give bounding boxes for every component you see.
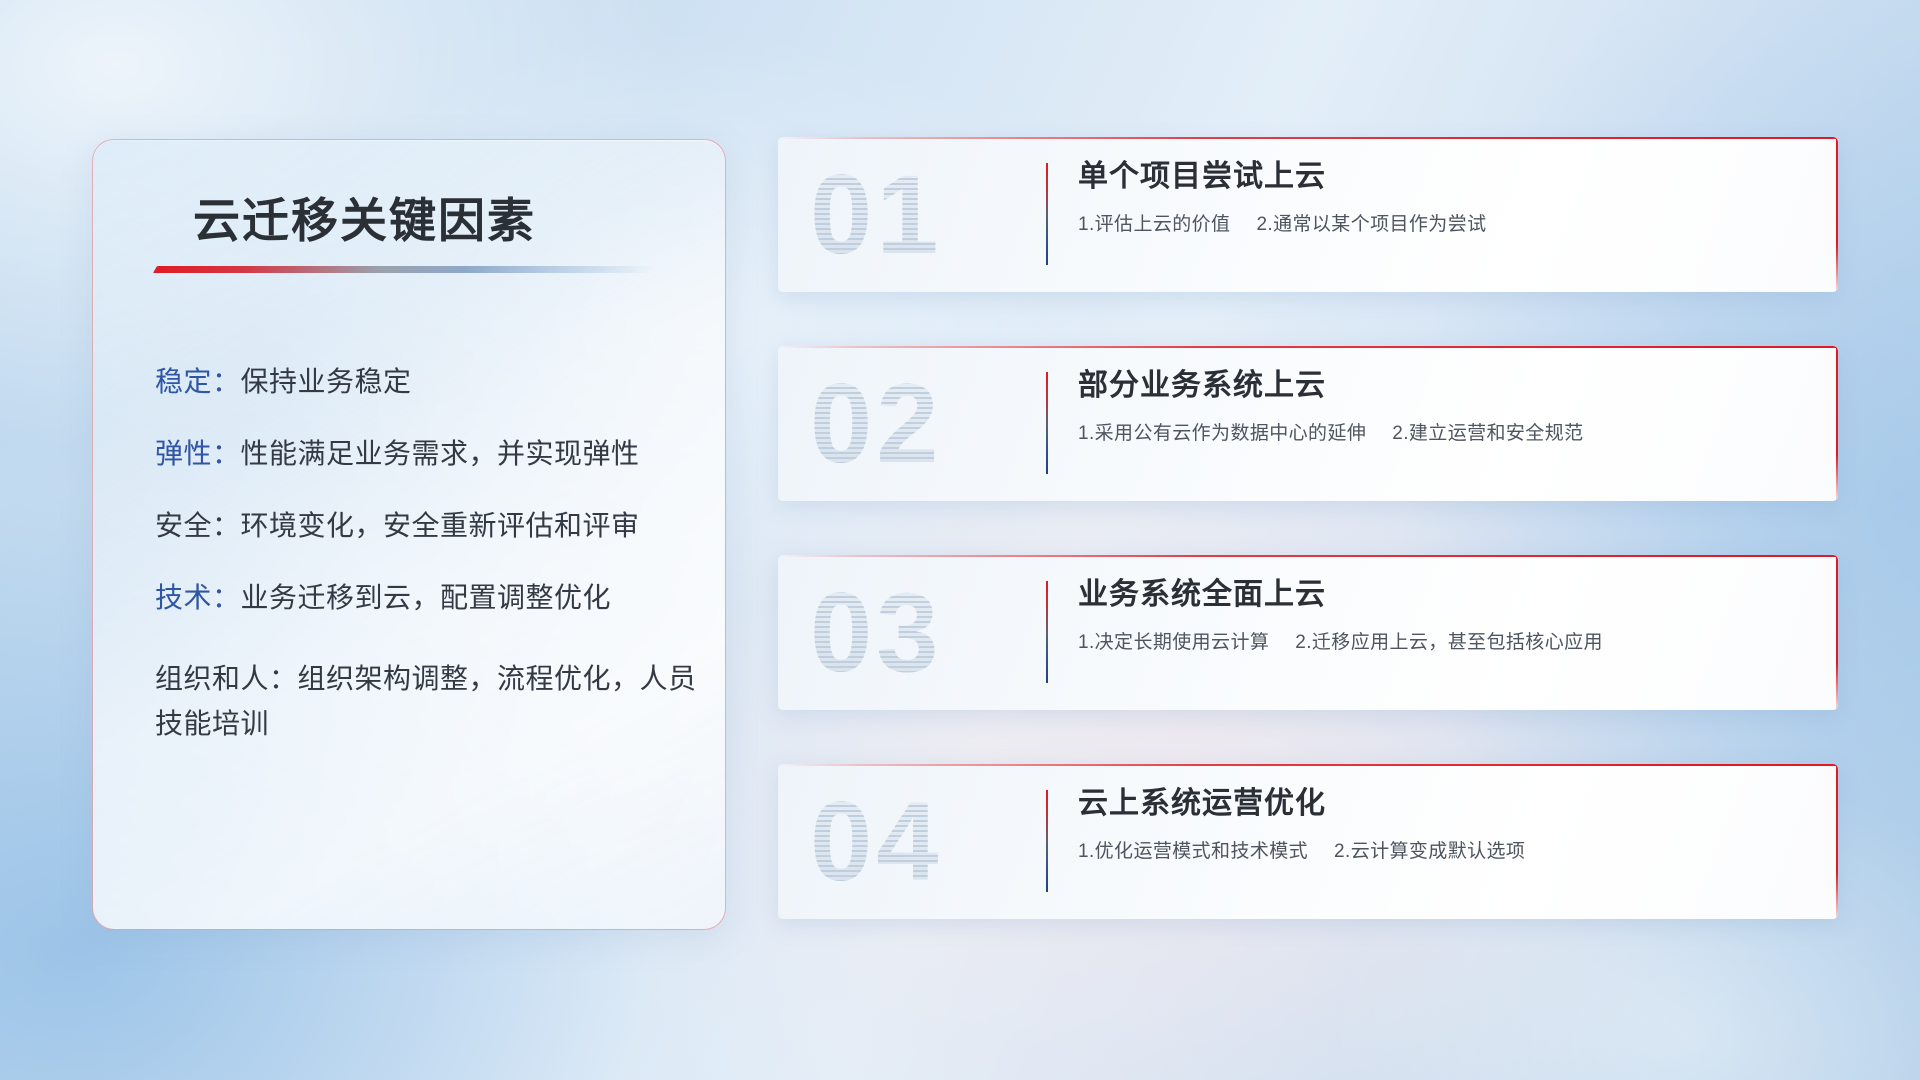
stage-point-1: 1.评估上云的价值	[1078, 214, 1230, 235]
stage-card-02[interactable]: 02 部分业务系统上云 1.采用公有云作为数据中心的延伸2.建立运营和安全规范	[778, 346, 1838, 501]
migration-stage-list: 01 单个项目尝试上云 1.评估上云的价值2.通常以某个项目作为尝试 02 部分…	[778, 137, 1838, 973]
factor-text: 业务迁移到云，配置调整优化	[241, 582, 612, 613]
factor-label: 安全：	[155, 510, 241, 541]
stage-description: 1.采用公有云作为数据中心的延伸2.建立运营和安全规范	[1078, 418, 1798, 445]
key-factors-panel: 云迁移关键因素 稳定：保持业务稳定 弹性：性能满足业务需求，并实现弹性 安全：环…	[92, 139, 726, 930]
factor-item-organization-people: 组织和人：组织架构调整，流程优化，人员技能培训	[155, 656, 697, 747]
stage-title: 云上系统运营优化	[1078, 786, 1798, 822]
factor-label: 组织和人：	[155, 663, 298, 694]
stage-point-1: 1.决定长期使用云计算	[1078, 632, 1269, 653]
factor-item-security: 安全：环境变化，安全重新评估和评审	[155, 512, 697, 540]
stage-number: 04	[810, 770, 1020, 912]
stage-number: 03	[810, 561, 1020, 703]
stage-card-04[interactable]: 04 云上系统运营优化 1.优化运营模式和技术模式2.云计算变成默认选项	[778, 764, 1838, 919]
factor-item-elasticity: 弹性：性能满足业务需求，并实现弹性	[155, 440, 697, 468]
factor-label: 技术：	[155, 582, 241, 613]
stage-point-2: 2.迁移应用上云，甚至包括核心应用	[1295, 632, 1603, 653]
stage-divider-rule	[1046, 372, 1048, 474]
stage-title: 单个项目尝试上云	[1078, 159, 1798, 195]
factor-label: 弹性：	[155, 438, 241, 469]
factor-item-stability: 稳定：保持业务稳定	[155, 368, 697, 396]
stage-point-2: 2.建立运营和安全规范	[1392, 423, 1583, 444]
stage-divider-rule	[1046, 163, 1048, 265]
factor-list: 稳定：保持业务稳定 弹性：性能满足业务需求，并实现弹性 安全：环境变化，安全重新…	[155, 368, 697, 791]
stage-point-1: 1.采用公有云作为数据中心的延伸	[1078, 423, 1366, 444]
stage-divider-rule	[1046, 790, 1048, 892]
stage-divider-rule	[1046, 581, 1048, 683]
factor-label: 稳定：	[155, 366, 241, 397]
factor-item-technology: 技术：业务迁移到云，配置调整优化	[155, 584, 697, 612]
stage-point-1: 1.优化运营模式和技术模式	[1078, 841, 1308, 862]
stage-card-01[interactable]: 01 单个项目尝试上云 1.评估上云的价值2.通常以某个项目作为尝试	[778, 137, 1838, 292]
stage-point-2: 2.通常以某个项目作为尝试	[1256, 214, 1486, 235]
stage-number: 02	[810, 352, 1020, 494]
stage-point-2: 2.云计算变成默认选项	[1334, 841, 1525, 862]
stage-number: 01	[810, 143, 1020, 285]
stage-description: 1.决定长期使用云计算2.迁移应用上云，甚至包括核心应用	[1078, 627, 1798, 654]
stage-description: 1.优化运营模式和技术模式2.云计算变成默认选项	[1078, 836, 1798, 863]
title-underline-rule	[153, 266, 657, 273]
factor-text: 环境变化，安全重新评估和评审	[241, 510, 640, 541]
factor-text: 保持业务稳定	[241, 366, 412, 397]
stage-title: 业务系统全面上云	[1078, 577, 1798, 613]
stage-card-03[interactable]: 03 业务系统全面上云 1.决定长期使用云计算2.迁移应用上云，甚至包括核心应用	[778, 555, 1838, 710]
page-title: 云迁移关键因素	[193, 182, 536, 251]
factor-text: 性能满足业务需求，并实现弹性	[241, 438, 640, 469]
stage-title: 部分业务系统上云	[1078, 368, 1798, 404]
stage-description: 1.评估上云的价值2.通常以某个项目作为尝试	[1078, 209, 1798, 236]
